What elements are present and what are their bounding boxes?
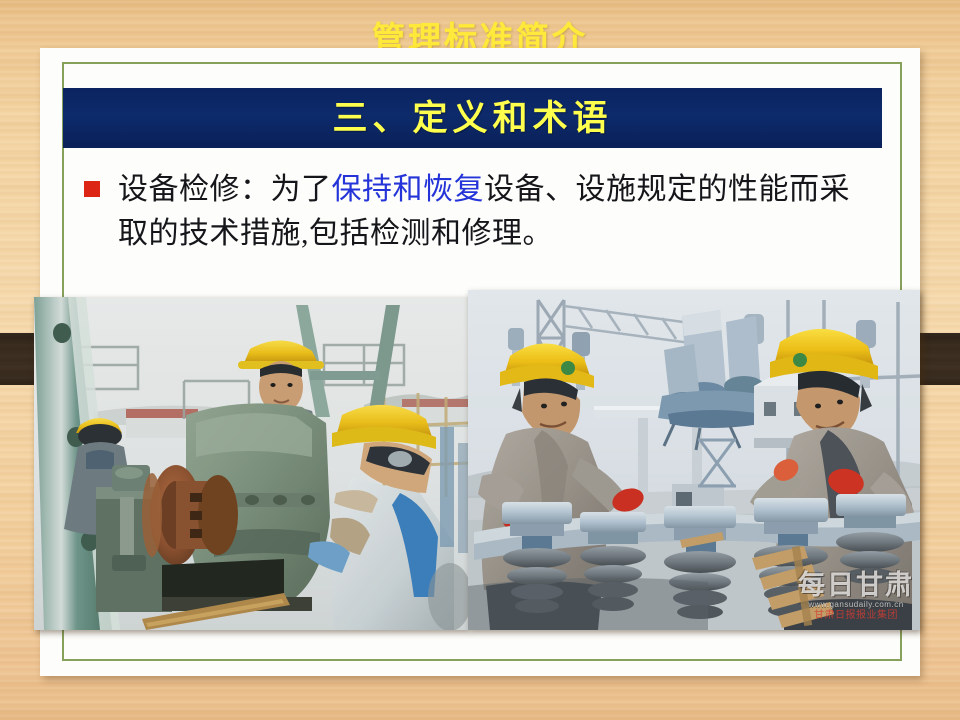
red-square-bullet-icon	[84, 181, 100, 197]
section-header-bar: 三、定义和术语	[63, 88, 882, 148]
definition-text: 设备检修：为了保持和恢复设备、设施规定的性能而采取的技术措施,包括检测和修理。	[118, 168, 874, 256]
slide-root: 管理标准简介 三、定义和术语 设备检修：为了保持和恢复设备、设施规定的性能而采取…	[0, 0, 960, 720]
definition-bullet-block: 设备检修：为了保持和恢复设备、设施规定的性能而采取的技术措施,包括检测和修理。	[84, 168, 874, 256]
substation-maintenance-photo-art	[468, 290, 920, 630]
definition-text-highlight: 保持和恢复	[332, 173, 485, 206]
equipment-overhaul-photo	[34, 297, 468, 630]
substation-maintenance-photo: 每日甘肃 www.gansudaily.com.cn 甘肃日报报业集团	[468, 290, 920, 630]
equipment-overhaul-photo-art	[34, 297, 468, 630]
definition-text-part-1: 设备检修：为了	[118, 173, 332, 206]
section-header-title: 三、定义和术语	[332, 101, 612, 136]
